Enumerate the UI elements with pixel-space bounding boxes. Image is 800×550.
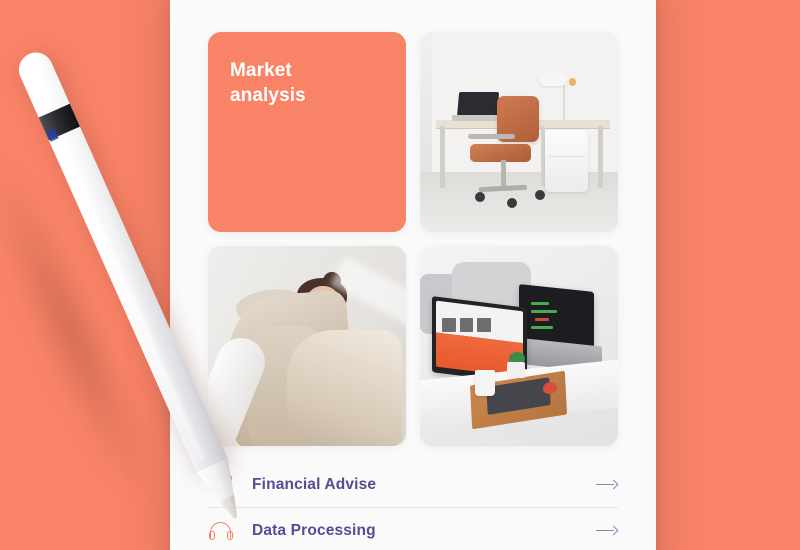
office-laptop-base	[452, 115, 500, 121]
services-list: Financial Advise Data Processing	[208, 462, 618, 550]
workstation-screen-thumbnail	[442, 318, 456, 332]
workstation-screen-thumbnail	[477, 318, 491, 332]
office-photo	[420, 32, 618, 232]
workstation-code-line	[531, 326, 553, 329]
phone-call-icon	[208, 472, 234, 498]
arrow-right-icon[interactable]	[596, 525, 618, 537]
service-row-data-processing[interactable]: Data Processing	[208, 508, 618, 550]
fabric-photo	[208, 246, 406, 446]
workstation-code-line	[535, 318, 549, 321]
workstation-code-line	[531, 310, 557, 313]
service-row-financial-advise[interactable]: Financial Advise	[208, 462, 618, 508]
office-floor	[420, 172, 618, 232]
arrow-right-icon[interactable]	[596, 479, 618, 491]
fabric-drape-b	[287, 330, 402, 446]
workstation-plant-pot	[507, 362, 525, 378]
office-lamp-arm	[563, 80, 566, 124]
office-cabinet-line	[549, 156, 585, 157]
arrow-head	[609, 479, 619, 489]
office-desk-leg-left	[440, 126, 445, 188]
office-chair-arm	[468, 134, 516, 139]
office-desk-leg-right	[598, 126, 603, 188]
tile-market-analysis[interactable]: Market analysis	[208, 32, 406, 232]
headphones-earcup-left	[209, 531, 215, 540]
tile-grid: Market analysis	[208, 32, 618, 446]
screenshot-stage: Home About Services Market analysis	[0, 0, 800, 550]
office-lamp-shade	[539, 72, 567, 86]
pencil-band	[39, 104, 80, 141]
workstation-photo	[420, 246, 618, 446]
pencil-band-accent	[46, 128, 59, 142]
workstation-mug	[475, 370, 495, 396]
headphones-earcup-right	[227, 531, 233, 540]
headphones-icon	[208, 518, 234, 544]
office-cabinet	[545, 130, 589, 192]
tile-office-photo[interactable]	[420, 32, 618, 232]
office-chair-caster	[507, 198, 517, 208]
service-label-data-processing: Data Processing	[252, 522, 376, 540]
arrow-head	[609, 525, 619, 535]
tile-workstation-photo[interactable]	[420, 246, 618, 446]
office-chair-caster	[535, 190, 545, 200]
tile-fabric-photo[interactable]	[208, 246, 406, 446]
market-analysis-title: Market analysis	[230, 58, 384, 108]
workstation-code-line	[531, 302, 549, 305]
office-chair-post	[501, 160, 506, 188]
device-card: Home About Services Market analysis	[170, 0, 656, 550]
service-label-financial-advise: Financial Advise	[252, 476, 376, 494]
workstation-screen-thumbnail	[460, 318, 474, 332]
